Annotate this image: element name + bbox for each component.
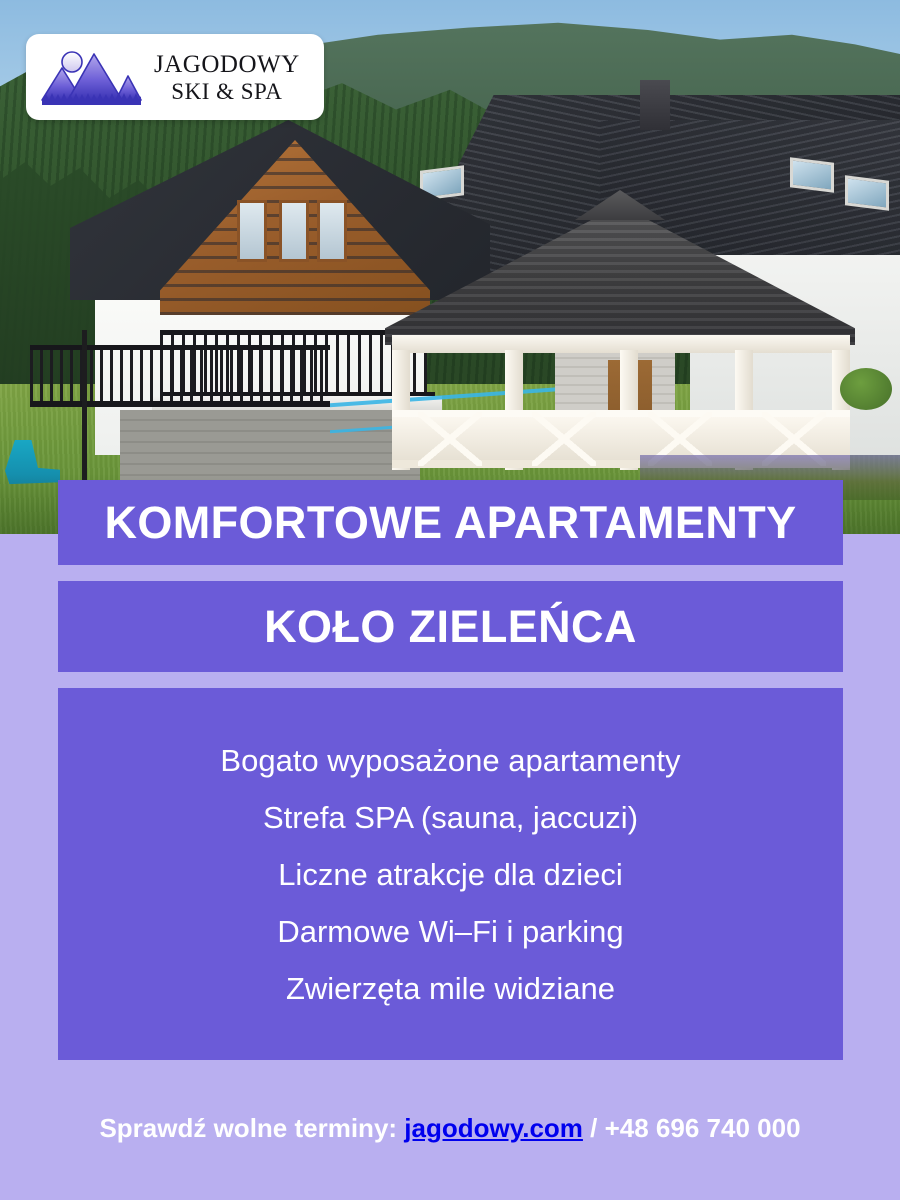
feature-item: Zwierzęta mile widziane	[286, 960, 615, 1017]
headline-band: KOMFORTOWE APARTAMENTY	[58, 480, 843, 565]
contact-footer: Sprawdź wolne terminy: jagodowy.com / +4…	[0, 1113, 900, 1144]
phone-number[interactable]: +48 696 740 000	[605, 1113, 801, 1143]
mountain-peaks-with-sun-icon	[40, 46, 144, 108]
chimney	[640, 80, 670, 130]
footer-prefix: Sprawdź wolne terminy:	[99, 1113, 404, 1143]
subheadline-band: KOŁO ZIELEŃCA	[58, 581, 843, 672]
gable-window	[279, 200, 309, 262]
gable-window	[237, 200, 267, 262]
website-link[interactable]: jagodowy.com	[404, 1113, 583, 1143]
page-title: KOMFORTOWE APARTAMENTY	[104, 497, 796, 549]
brand-name: JAGODOWY	[154, 52, 300, 77]
feature-item: Bogato wyposażone apartamenty	[220, 732, 680, 789]
brand-tagline: SKI & SPA	[171, 80, 282, 103]
features-panel: Bogato wyposażone apartamenty Strefa SPA…	[58, 688, 843, 1060]
feature-item: Liczne atrakcje dla dzieci	[278, 846, 623, 903]
skylight	[790, 157, 834, 192]
page-subtitle: KOŁO ZIELEŃCA	[264, 601, 637, 653]
skylight	[845, 175, 889, 210]
gazebo-rail-cross	[532, 412, 596, 466]
feature-item: Strefa SPA (sauna, jaccuzi)	[263, 789, 638, 846]
feature-item: Darmowe Wi–Fi i parking	[277, 903, 623, 960]
topiary-bush	[840, 368, 892, 410]
gazebo-rail-cross	[418, 412, 482, 466]
footer-separator: /	[583, 1113, 605, 1143]
lower-terrace-railing	[30, 345, 330, 407]
brand-wordmark: JAGODOWY SKI & SPA	[154, 52, 300, 103]
gable-window	[317, 200, 347, 262]
brand-logo-card[interactable]: JAGODOWY SKI & SPA	[26, 34, 324, 120]
lamp-post	[82, 330, 87, 480]
